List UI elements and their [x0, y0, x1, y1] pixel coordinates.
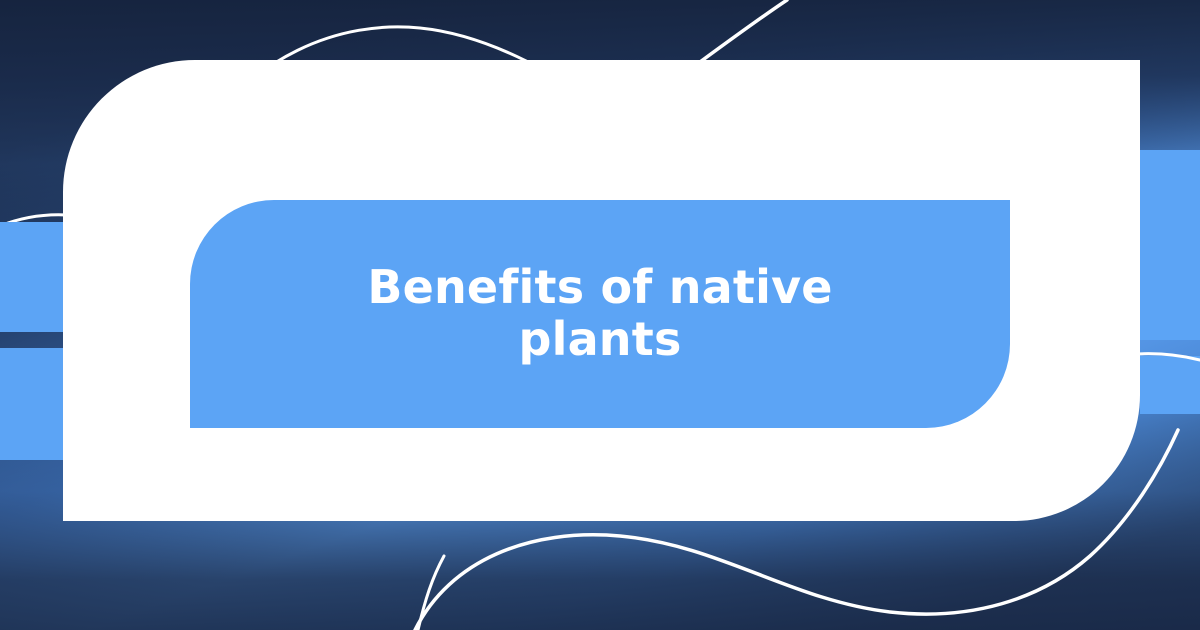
- edge-band-left-lower: [0, 348, 63, 460]
- edge-band-right-upper: [1140, 150, 1200, 340]
- slide-canvas: Benefits of native plants: [0, 0, 1200, 630]
- edge-band-left-upper: [0, 222, 63, 332]
- page-title: Benefits of native plants: [256, 262, 944, 365]
- title-panel: Benefits of native plants: [190, 200, 1010, 428]
- edge-band-right-lower: [1140, 356, 1200, 414]
